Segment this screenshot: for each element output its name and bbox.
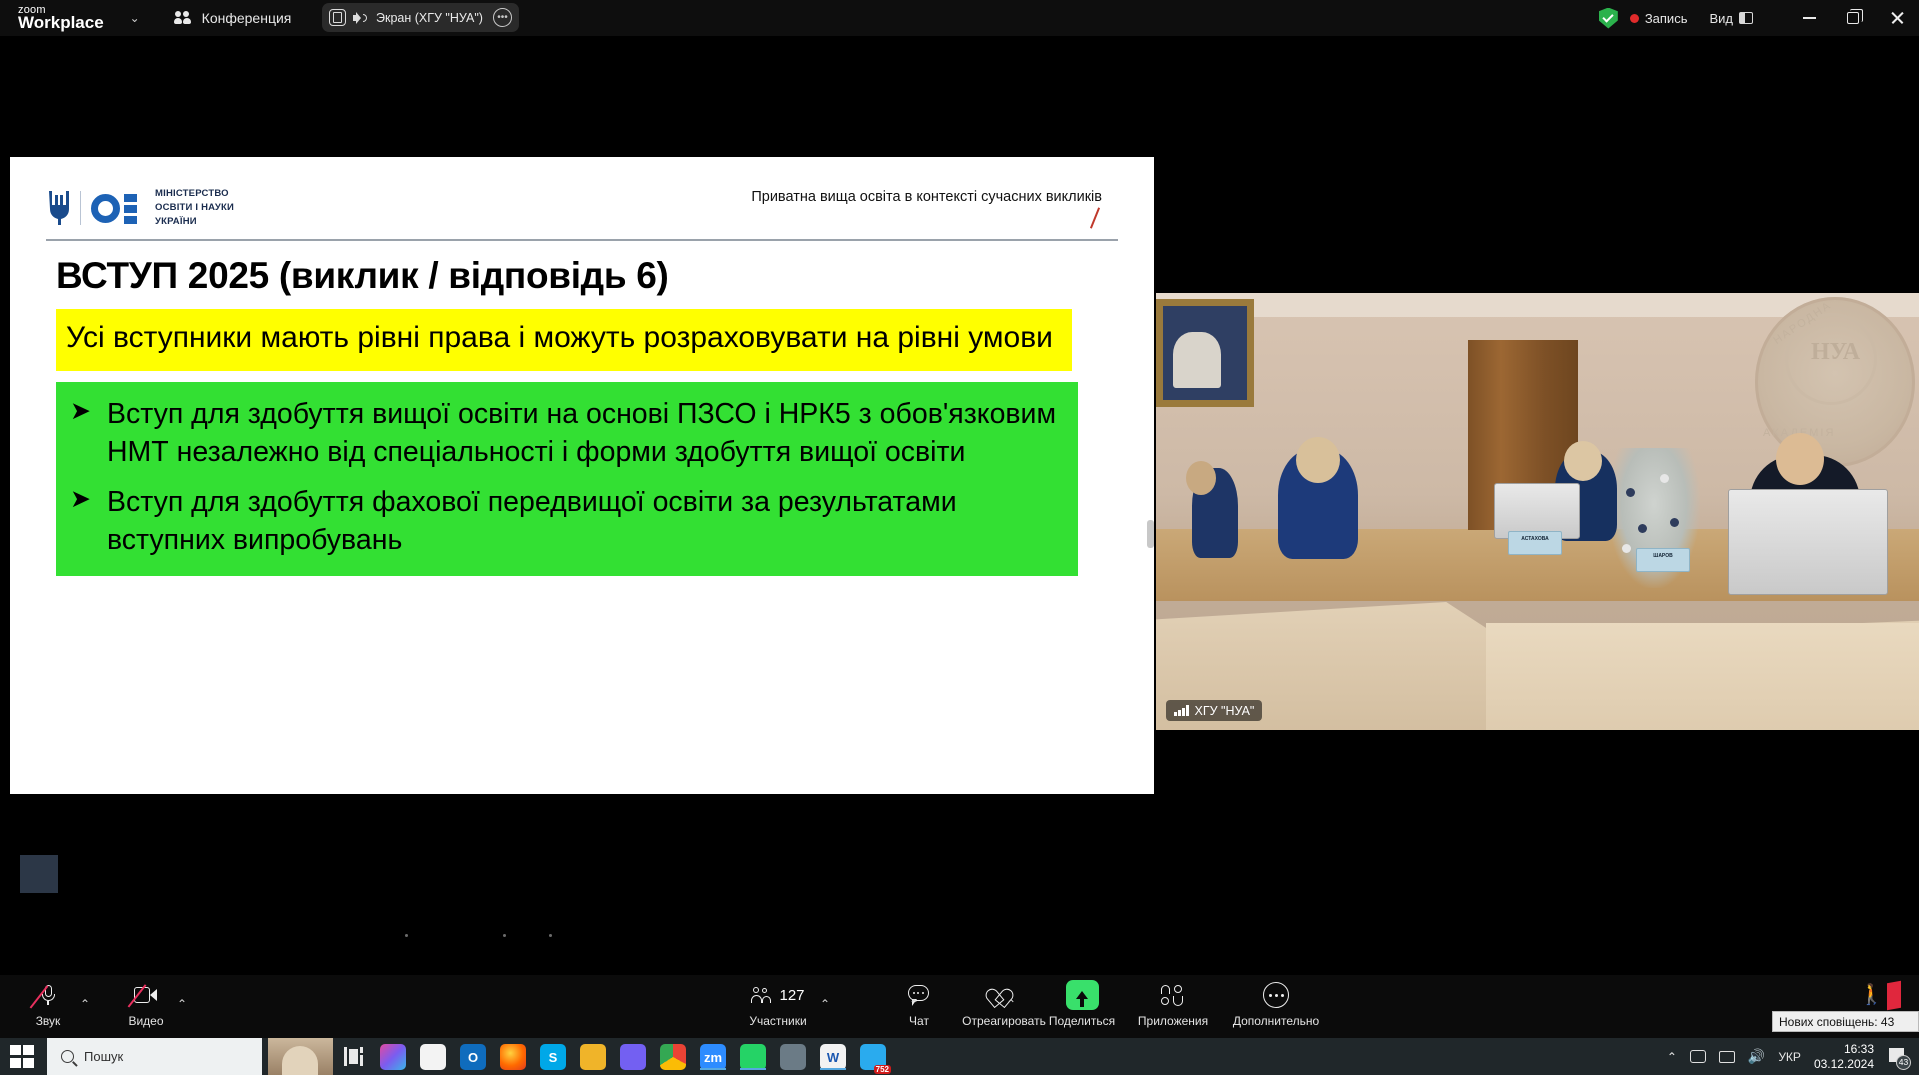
video-person — [1564, 441, 1602, 481]
leave-person-icon: 🚶 — [1859, 985, 1884, 1005]
ministry-line2: ОСВІТИ І НАУКИ — [155, 202, 234, 213]
video-person — [1186, 461, 1216, 495]
chevron-down-icon[interactable]: ⌄ — [126, 11, 144, 25]
presentation-slide: МІНІСТЕРСТВО ОСВІТИ І НАУКИ УКРАЇНИ Прив… — [10, 157, 1154, 794]
restore-icon — [1847, 12, 1859, 24]
recording-label: Запись — [1645, 11, 1688, 26]
ministry-logo: МІНІСТЕРСТВО ОСВІТИ І НАУКИ УКРАЇНИ — [48, 187, 234, 228]
react-caret[interactable]: ⌃ — [1006, 997, 1016, 1011]
slide-title: ВСТУП 2025 (виклик / відповідь 6) — [56, 255, 1154, 297]
more-label: Дополнительно — [1233, 1014, 1319, 1028]
highlight-text: Усі вступники мають рівні права і можуть… — [66, 319, 1058, 357]
word-icon[interactable]: W — [820, 1044, 846, 1070]
viber-icon[interactable] — [620, 1044, 646, 1070]
list-item: ➤ Вступ для здобуття фахової передвищої … — [70, 484, 1060, 560]
video-wall-emblem: НАРОДНА НУА АКАДЕМІЯ — [1755, 297, 1915, 467]
video-nameplate: ШАРОВ — [1636, 548, 1690, 572]
zoom-meeting-window: zoom Workplace ⌄ Конференция Экран (ХГУ … — [0, 0, 1919, 1075]
meeting-tab[interactable]: Конференция — [174, 10, 292, 26]
calculator-icon[interactable] — [780, 1044, 806, 1070]
wall-logo-text-center: НУА — [1811, 339, 1860, 366]
video-nameplate: АСТАХОВА — [1508, 531, 1562, 555]
recording-indicator[interactable]: Запись — [1630, 11, 1688, 26]
participants-label: Участники — [749, 1014, 806, 1028]
language-indicator[interactable]: УКР — [1778, 1050, 1801, 1064]
bullets-box: ➤ Вступ для здобуття вищої освіти на осн… — [56, 382, 1078, 576]
more-button[interactable]: Дополнительно — [1206, 980, 1346, 1028]
microphone-muted-icon — [42, 980, 55, 1010]
mon-emblem-icon — [91, 191, 145, 225]
more-dots-icon[interactable]: ••• — [493, 8, 512, 27]
layout-icon — [1739, 12, 1753, 24]
telegram-icon[interactable]: 752 — [860, 1044, 886, 1070]
network-icon[interactable] — [1719, 1051, 1735, 1063]
restore-button[interactable] — [1831, 0, 1875, 36]
chrome-icon[interactable] — [660, 1044, 686, 1070]
video-person — [1296, 437, 1340, 483]
list-item: ➤ Вступ для здобуття вищої освіти на осн… — [70, 396, 1060, 472]
telegram-badge: 752 — [874, 1065, 891, 1074]
more-dots-icon — [1263, 980, 1289, 1010]
bullet-text: Вступ для здобуття вищої освіти на основ… — [107, 396, 1060, 472]
camera-muted-icon — [134, 980, 158, 1010]
microsoft-store-icon[interactable] — [420, 1044, 446, 1070]
header-divider — [46, 239, 1118, 241]
notification-toast[interactable]: Нових сповіщень: 43 — [1772, 1011, 1919, 1032]
shared-screen-stage: МІНІСТЕРСТВО ОСВІТИ І НАУКИ УКРАЇНИ Прив… — [10, 60, 1154, 935]
logo-divider — [80, 191, 81, 225]
slide-header: МІНІСТЕРСТВО ОСВІТИ І НАУКИ УКРАЇНИ Прив… — [10, 157, 1154, 241]
volume-icon[interactable]: 🔊 — [1748, 1048, 1765, 1065]
close-button[interactable] — [1875, 0, 1919, 36]
taskbar-active-underline — [740, 1068, 766, 1071]
signal-bars-icon — [1174, 705, 1189, 716]
shield-check-icon[interactable] — [1599, 8, 1618, 29]
audio-label: Звук — [36, 1014, 61, 1028]
highlight-box: Усі вступники мають рівні права і можуть… — [56, 309, 1072, 371]
audio-options-caret[interactable]: ⌃ — [80, 997, 90, 1011]
window-controls: Запись Вид — [1599, 0, 1919, 36]
clock-time: 16:33 — [1844, 1042, 1874, 1056]
bullet-marker-icon: ➤ — [70, 396, 91, 472]
clock[interactable]: 16:33 03.12.2024 — [1814, 1042, 1874, 1072]
notification-count: 43 — [1896, 1055, 1911, 1070]
share-screen-arrow-icon — [1066, 980, 1099, 1010]
participants-icon: 127 — [751, 980, 804, 1010]
bullet-text: Вступ для здобуття фахової передвищої ос… — [107, 484, 1060, 560]
search-placeholder: Пошук — [84, 1049, 123, 1064]
panel-resize-handle[interactable] — [1147, 520, 1154, 548]
taskbar-widget-thumbnail[interactable] — [268, 1038, 333, 1075]
record-dot-icon — [1630, 14, 1639, 23]
system-tray: ⌃ 🔊 УКР 16:33 03.12.2024 43 — [1667, 1038, 1919, 1075]
search-input[interactable]: Пошук — [47, 1038, 262, 1075]
speaker-icon — [353, 11, 369, 25]
title-bar: zoom Workplace ⌄ Конференция Экран (ХГУ … — [0, 0, 1919, 36]
windows-taskbar: Пошук OSzmW752 ⌃ 🔊 УКР 16:33 03.12.2024 … — [0, 1038, 1919, 1075]
skype-icon[interactable]: S — [540, 1044, 566, 1070]
view-label: Вид — [1709, 11, 1733, 26]
screen-share-pill[interactable]: Экран (ХГУ "НУА") ••• — [322, 3, 519, 32]
video-label: Видео — [128, 1014, 163, 1028]
outlook-icon[interactable]: O — [460, 1044, 486, 1070]
zoom-logo: zoom Workplace — [18, 5, 104, 31]
search-icon — [61, 1050, 74, 1063]
participants-icon — [174, 11, 193, 26]
video-table-right — [1486, 623, 1919, 730]
screen-share-icon — [329, 9, 346, 26]
meeting-toolbar: Звук ⌃ Видео ⌃ 127 Участники ⌃ Чат ⌃ — [0, 975, 1919, 1038]
red-mark-decoration — [1090, 207, 1100, 228]
taskbar-active-underline — [820, 1068, 846, 1071]
leave-meeting-button[interactable]: 🚶 — [1861, 981, 1901, 1013]
participants-count: 127 — [779, 987, 804, 1004]
leave-meeting-icon — [1887, 981, 1901, 1010]
camera-icon[interactable] — [1690, 1050, 1706, 1063]
video-participant-label: ХГУ "НУА" — [1195, 704, 1255, 718]
apps-label: Приложения — [1138, 1014, 1208, 1028]
zoom-logo-line2: Workplace — [18, 14, 104, 31]
view-button[interactable]: Вид — [1709, 11, 1753, 26]
slide-header-subtitle: Приватна вища освіта в контексті сучасни… — [751, 189, 1102, 205]
video-participant-badge: ХГУ "НУА" — [1166, 700, 1262, 721]
chat-caret[interactable]: ⌃ — [909, 997, 919, 1011]
video-tile[interactable]: НАРОДНА НУА АКАДЕМІЯ АСТАХОВА ШАРОВ ХГУ … — [1156, 293, 1919, 730]
task-view-icon[interactable] — [344, 1047, 364, 1066]
chevron-up-icon[interactable]: ⌃ — [1667, 1050, 1677, 1064]
taskbar-active-underline — [700, 1068, 726, 1071]
zoom-icon[interactable]: zm — [700, 1044, 726, 1070]
firefox-icon[interactable] — [500, 1044, 526, 1070]
copilot-icon[interactable] — [380, 1044, 406, 1070]
chat-label: Чат — [909, 1014, 929, 1028]
clock-date: 03.12.2024 — [1814, 1057, 1874, 1071]
ministry-line3: УКРАЇНИ — [155, 216, 197, 227]
minimize-button[interactable] — [1787, 0, 1831, 36]
whatsapp-icon[interactable] — [740, 1044, 766, 1070]
participants-button[interactable]: 127 Участники — [723, 980, 833, 1028]
apps-icon — [1161, 980, 1185, 1010]
file-explorer-icon[interactable] — [580, 1044, 606, 1070]
notification-toast-text: Нових сповіщень: 43 — [1779, 1015, 1894, 1029]
screen-share-label: Экран (ХГУ "НУА") — [376, 11, 483, 25]
share-label: Поделиться — [1049, 1014, 1115, 1028]
windows-start-icon[interactable] — [10, 1045, 34, 1068]
ministry-name: МІНІСТЕРСТВО ОСВІТИ І НАУКИ УКРАЇНИ — [155, 187, 234, 228]
slide-thumbnail-placeholder — [20, 855, 58, 893]
minimize-icon — [1803, 17, 1816, 19]
slide-artifact-dots — [405, 934, 565, 940]
video-wall-painting — [1156, 299, 1254, 407]
ukraine-trident-icon — [48, 189, 70, 227]
bullet-marker-icon: ➤ — [70, 484, 91, 560]
video-options-caret[interactable]: ⌃ — [177, 997, 187, 1011]
video-laptop — [1728, 489, 1888, 595]
ministry-line1: МІНІСТЕРСТВО — [155, 188, 229, 199]
video-person — [1776, 433, 1824, 485]
participants-caret[interactable]: ⌃ — [820, 997, 830, 1011]
notification-center-icon[interactable]: 43 — [1887, 1046, 1909, 1068]
meeting-tab-label: Конференция — [202, 10, 292, 26]
close-icon — [1890, 11, 1904, 25]
